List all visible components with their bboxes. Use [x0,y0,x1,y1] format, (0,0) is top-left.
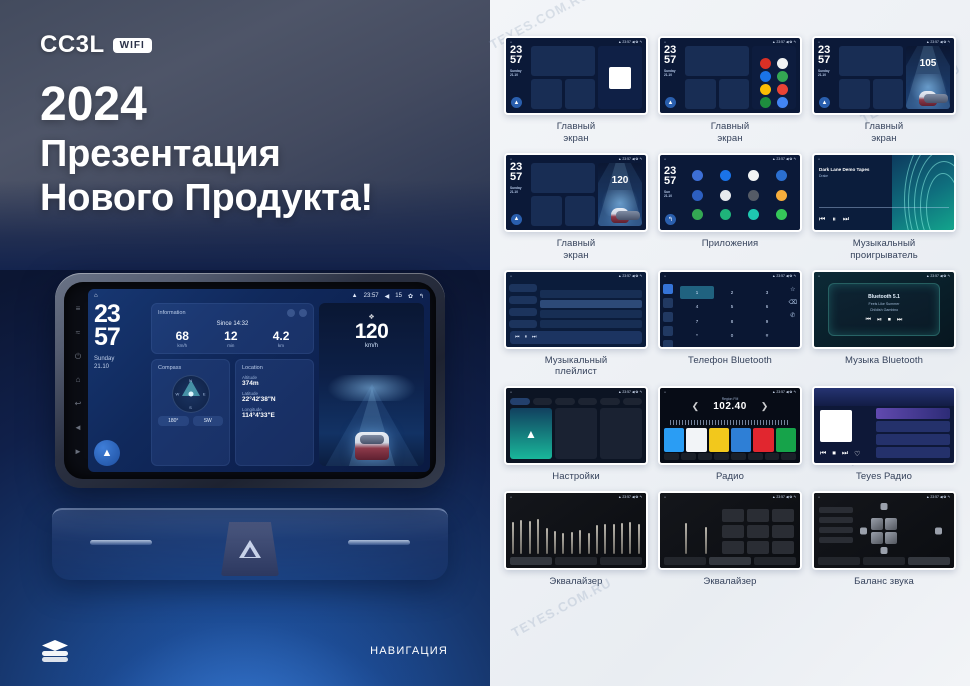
wifi-icon: ▲ [525,427,537,441]
screen-caption: Баланс звука [854,576,914,588]
compass-card[interactable]: Compass N E S W [151,359,230,466]
product-logo: CC3L WIFI [40,31,152,59]
bt-version: Bluetooth 5.1 [868,294,900,300]
grid-row: ⌂▲ 23:57 ◀ ✿ ↰ ▲ Настройки ⌂▲ 23:57 ◀ ✿ … [504,386,956,483]
wifi-icon: ▲ [352,293,358,299]
thumb-speed: 120 [598,175,642,186]
screen-card[interactable]: ⌂▲ 23:57 ◀ ✿ ↰ 1 2 3 4 5 6 7 8 9 * 0 [658,270,802,379]
side-button-volume-down[interactable]: ◄ [74,424,82,432]
equalizer-tabs[interactable] [510,557,642,565]
playlist-tracks[interactable] [540,290,642,328]
screen-caption: Радио [716,471,744,483]
assistant-icon[interactable]: ▲ [94,440,120,466]
equalizer-tabs[interactable] [664,557,796,565]
information-since: Since 14:32 [158,321,307,327]
layers-icon [42,640,68,662]
settings-tabs[interactable] [510,398,642,405]
play-pause-icon[interactable]: ⏯ [877,317,882,324]
head-unit-screen[interactable]: ⌂ ▲ 23:57 ◀ 15 ✿ ↰ 23 57 [88,289,430,472]
compass-n: N [189,378,192,383]
dial-key[interactable]: 9 [750,315,784,329]
previous-icon[interactable]: ⏮ [866,317,871,324]
bt-playback-controls[interactable]: ⏮ ⏯ ⏹ ⏭ [866,317,903,324]
side-button-home[interactable]: ⌂ [76,376,81,384]
frequency-scale[interactable] [670,420,790,425]
head-unit-body: ≡ ≈ ⏻ ⌂ ↩ ◄ ► ⌂ ▲ 23:57 [64,282,436,479]
next-icon[interactable]: ⏭ [532,334,537,340]
screen-card[interactable]: ⌂▲ 23:57 ◀ ✿ ↰ ▲ Настройки [504,386,648,483]
compass-direction: SW [193,416,224,426]
logo-wifi-badge: WIFI [113,38,152,53]
preset-tiles[interactable] [664,428,796,452]
thumb-bt-phone[interactable]: ⌂▲ 23:57 ◀ ✿ ↰ 1 2 3 4 5 6 7 8 9 * 0 [658,270,802,349]
widgets-column: Information Since 14:32 68km/h 12min 4.2… [151,303,314,466]
previous-icon[interactable]: ⏮ [515,334,520,340]
screen-caption: Музыкальныйплейлист [545,355,608,379]
status-icons: ▲ 23:57 ◀ ✿ ↰ [772,274,796,278]
assistant-icon: ▲ [819,97,830,108]
seek-bar[interactable] [819,207,949,208]
logo-model: CC3L [40,31,105,59]
home-icon: ⌂ [510,495,512,499]
next-icon[interactable]: ⏭ [897,317,902,324]
phone-nav[interactable] [663,284,673,349]
station-list[interactable] [876,408,950,458]
radio-frequency: 102.40 [713,401,747,412]
status-time: 23:57 [364,293,379,299]
balance-front-button[interactable] [881,503,888,510]
information-stats: 68km/h 12min 4.2km [158,330,307,348]
grid-row: ⌂▲ 23:57 ◀ ✿ ↰ ⏮ ⏸ ⏭ Музыкальныйплейлист… [504,270,956,379]
equalizer-sliders[interactable] [512,509,640,554]
dial-key[interactable]: 3 [750,286,784,300]
compass-e: E [203,392,206,397]
screen-card[interactable]: ⌂▲ 23:57 ◀ ✿ ↰ 2357Sun21.10 ↰ Приложения [658,153,802,262]
home-icon: ⌂ [664,495,666,499]
next-icon[interactable]: ⏭ [842,450,848,458]
dial-key[interactable]: 2 [715,286,749,300]
status-icons: ▲ 23:57 ◀ ✿ ↰ [618,157,642,161]
stat-item: 68km/h [176,330,189,348]
speed-readout: ❖ 120 km/h [319,313,424,349]
stat-item: 4.2km [273,330,290,348]
pause-icon[interactable]: ⏸ [832,216,836,224]
status-icons: ▲ 23:57 ◀ ✿ ↰ [926,495,950,499]
side-button-volume-up[interactable]: ► [74,448,82,456]
clock-date: 21.10 [94,363,146,371]
compass-needle [188,392,193,397]
screens-grid-panel: TEYES.COM.RU TEYES.COM.RU TEYES.COM.RU T… [490,0,970,686]
headline-year: 2024 [40,78,373,132]
back-icon[interactable]: ↰ [419,293,424,300]
thumb-sound-balance[interactable]: ⌂▲ 23:57 ◀ ✿ ↰ [812,491,956,570]
location-title: Location [242,365,263,371]
screen-caption: Музыкальныйпроигрыватель [850,238,918,262]
status-icons: ▲ 23:57 ◀ ✿ ↰ [772,495,796,499]
assistant-icon: ▲ [511,214,522,225]
speed-icon: ❖ [319,313,424,321]
dial-pad[interactable]: 1 2 3 4 5 6 7 8 9 * 0 # [680,286,784,343]
favorite-icon[interactable]: ☆ [790,286,795,293]
playback-controls[interactable]: ⏮ ⏸ ⏭ [819,216,849,224]
headline-line1: Презентация [40,132,373,176]
horizon-glow [319,375,424,401]
mini-player-bar[interactable]: ⏮ ⏸ ⏭ [510,331,642,344]
thumb-home-drive-105[interactable]: ⌂▲ 23:57 ◀ ✿ ↰ 2357Sunday21.10 105 ▲ [812,36,956,115]
settings-tiles[interactable]: ▲ [510,408,642,459]
bt-track: Feels Like Summer [869,302,900,306]
status-icons: ▲ 23:57 ◀ ✿ ↰ [618,495,642,499]
longitude-value: 114°4'33"E [242,412,307,419]
driving-view-widget[interactable]: ❖ 120 km/h [319,303,424,466]
screen-card[interactable]: ⌂▲ 23:57 ◀ ✿ ↰ 2357Sunday21.10 ▲ Главный… [504,36,648,145]
dial-key[interactable]: 4 [680,300,714,314]
screen-caption: Настройки [552,471,599,483]
balance-left-button[interactable] [860,527,867,534]
favorite-icon[interactable]: ♡ [854,450,860,458]
track-artist: Drake [819,174,890,178]
radio-toolbar[interactable] [664,453,796,460]
status-icons: ▲ 23:57 ◀ ✿ ↰ [772,40,796,44]
compass-readouts: 180° SW [158,416,223,426]
thumb-speed: 105 [906,58,950,69]
stat-value: 12 [224,330,237,343]
previous-icon[interactable]: ⏮ [820,450,826,458]
playlist-sidebar[interactable] [509,284,537,328]
screen-card[interactable]: ⌂▲ 23:57 ◀ ✿ ↰ 2357Sunday21.10 105 ▲ Гла… [812,36,956,145]
compass-w: W [176,392,180,397]
status-icons: ▲ 23:57 ◀ ✿ ↰ [926,274,950,278]
screen-card[interactable]: ⌂▲ 23:57 ◀ ✿ ↰ Dark Lane Demo Tapes Drak… [812,153,956,262]
phone-actions[interactable]: ☆ ⌫ ✆ [789,286,797,319]
home-screen-body: 23 57 Sunday 21.10 ▲ Information [88,303,430,472]
status-bar: ⌂ ▲ 23:57 ◀ 15 ✿ ↰ [88,289,430,303]
seat-balance-grid[interactable] [871,518,897,544]
app-grid[interactable] [682,165,796,226]
altitude-value: 374m [242,380,307,387]
radio-tuner[interactable]: ❮ 102.40 ❯ [660,401,800,412]
balance-right-button[interactable] [935,527,942,534]
information-title: Information [158,310,186,316]
home-icon: ⌂ [818,157,820,161]
screen-caption: Музыка Bluetooth [845,355,923,367]
headline-line2: Нового Продукта! [40,176,373,220]
home-icon: ⌂ [664,157,666,161]
clock-minutes: 57 [94,326,146,349]
screen-caption: Телефон Bluetooth [688,355,772,367]
compass-s: S [189,405,192,410]
next-icon[interactable]: ⏭ [843,216,849,224]
hero-panel: CC3L WIFI 2024 Презентация Нового Продук… [0,0,490,686]
status-icons: ▲ 23:57 ◀ ✿ ↰ [618,390,642,394]
screen-caption: Приложения [702,238,759,250]
screen-caption: Эквалайзер [549,576,602,588]
head-unit-side-buttons[interactable]: ≡ ≈ ⏻ ⌂ ↩ ◄ ► [68,289,88,472]
backspace-icon[interactable]: ⌫ [789,299,797,306]
stat-value: 4.2 [273,330,290,343]
screen-card[interactable]: ⌂▲ 23:57 ◀ ✿ ↰ 2357Sunday21.10 120 ▲ Гла… [504,153,648,262]
home-icon: ⌂ [664,390,666,394]
bt-music-card: Bluetooth 5.1 Feels Like Summer Childish… [828,283,940,336]
balance-rear-button[interactable] [881,547,888,554]
thumb-clock: 2357Sun21.10 [664,167,682,198]
bluetooth-icon[interactable]: ✿ [408,293,413,300]
dashboard-photo: ≡ ≈ ⏻ ⌂ ↩ ◄ ► ⌂ ▲ 23:57 [0,255,490,555]
assistant-icon: ▲ [665,97,676,108]
pause-icon[interactable]: ⏸ [525,334,528,340]
thumb-app-drawer[interactable]: ⌂▲ 23:57 ◀ ✿ ↰ 2357Sun21.10 ↰ [658,153,802,232]
speed-unit: km/h [319,343,424,349]
dial-key[interactable]: * [680,329,714,343]
thumb-home-apps[interactable]: ⌂▲ 23:57 ◀ ✿ ↰ 2357Sunday21.10 ▲ [658,36,802,115]
playback-controls[interactable]: ⏮ ⏹ ⏭ ♡ [820,450,860,458]
dial-key[interactable]: 8 [715,315,749,329]
information-actions[interactable] [287,309,307,317]
next-station-icon[interactable]: ❯ [761,401,769,412]
side-button-power[interactable]: ⏻ [75,353,81,361]
grid-row: ⌂▲ 23:57 ◀ ✿ ↰ 2357Sunday21.10 120 ▲ Гла… [504,153,956,262]
thumb-equalizer-simple[interactable]: ⌂▲ 23:57 ◀ ✿ ↰ [658,491,802,570]
dial-key[interactable]: # [750,329,784,343]
thumb-equalizer-bars[interactable]: ⌂▲ 23:57 ◀ ✿ ↰ [504,491,648,570]
location-latitude: Latitude 22°42'38"N [242,391,307,403]
visualizer [892,155,954,230]
speed-value: 120 [319,321,424,342]
status-icons: ▲ 23:57 ◀ ✿ ↰ [772,390,796,394]
stat-value: 68 [176,330,189,343]
screen-card[interactable]: ⌂▲ 23:57 ◀ ✿ ↰ Баланс звука [812,491,956,588]
status-icons: ▲ 23:57 ◀ ✿ ↰ [926,40,950,44]
stop-icon[interactable]: ⏹ [832,450,836,458]
settings-icon[interactable] [287,309,295,317]
compass-heading: 180° [158,416,189,426]
screen-card[interactable]: ⏮ ⏹ ⏭ ♡ Teyes Радио [812,386,956,483]
screen-caption: Главныйэкран [865,121,904,145]
grid-row: ⌂▲ 23:57 ◀ ✿ ↰ 2357Sunday21.10 ▲ Главный… [504,36,956,145]
balance-tabs[interactable] [818,557,950,565]
screen-caption: Teyes Радио [856,471,912,483]
screen-caption: Главныйэкран [557,121,596,145]
thumb-music-player[interactable]: ⌂▲ 23:57 ◀ ✿ ↰ Dark Lane Demo Tapes Drak… [812,153,956,232]
screen-card[interactable]: ⌂▲ 23:57 ◀ ✿ ↰ Эквалайзер [504,491,648,588]
clock-day: Sunday [94,355,146,363]
screen-card[interactable]: ⌂▲ 23:57 ◀ ✿ ↰ ⏮ ⏸ ⏭ Музыкальныйплейлист [504,270,648,379]
screen-caption: Главныйэкран [557,238,596,262]
screen-card[interactable]: ⌂▲ 23:57 ◀ ✿ ↰ Эквалайзер [658,491,802,588]
hero-footer: НАВИГАЦИЯ [0,616,490,686]
balance-presets[interactable] [819,507,853,543]
dial-key[interactable]: 5 [715,300,749,314]
back-icon[interactable]: ↰ [665,214,676,225]
information-card[interactable]: Information Since 14:32 68km/h 12min 4.2… [151,303,314,354]
home-icon: ⌂ [510,274,512,278]
screen-caption: Эквалайзер [703,576,756,588]
location-altitude: Altitude 374m [242,375,307,387]
screen-caption: Главныйэкран [711,121,750,145]
stat-unit: km [273,343,290,348]
status-icons: ▲ 23:57 ◀ ✿ ↰ [618,274,642,278]
thumb-teyes-radio[interactable]: ⏮ ⏹ ⏭ ♡ [812,386,956,465]
status-volume: 15 [395,293,402,299]
prev-station-icon[interactable]: ❮ [692,401,700,412]
side-button-wifi[interactable]: ≈ [76,329,80,337]
location-card[interactable]: Location Altitude 374m Latitude 22°42'38… [235,359,314,466]
track-title: Dark Lane Demo Tapes [819,167,890,172]
status-icons: ▲ 23:57 ◀ ✿ ↰ [618,40,642,44]
headline: 2024 Презентация Нового Продукта! [40,78,373,220]
stop-icon[interactable]: ⏹ [888,317,891,324]
dial-key[interactable]: 0 [715,329,749,343]
assistant-icon: ▲ [511,97,522,108]
thumb-bt-music[interactable]: ⌂▲ 23:57 ◀ ✿ ↰ Bluetooth 5.1 Feels Like … [812,270,956,349]
call-icon[interactable]: ✆ [790,312,795,319]
home-icon: ⌂ [818,495,820,499]
thumb-home-media[interactable]: ⌂▲ 23:57 ◀ ✿ ↰ 2357Sunday21.10 ▲ [504,36,648,115]
home-icon: ⌂ [818,274,820,278]
presentation-slide: CC3L WIFI 2024 Презентация Нового Продук… [0,0,970,686]
nav-label: НАВИГАЦИЯ [370,645,448,657]
app-shortcuts[interactable] [756,56,792,105]
compass-dial: N E S W [172,375,210,413]
latitude-value: 22°42'38"N [242,396,307,403]
thumb-settings[interactable]: ⌂▲ 23:57 ◀ ✿ ↰ ▲ [504,386,648,465]
teyes-header[interactable] [814,388,954,406]
stat-unit: km/h [176,343,189,348]
compass-title: Compass [158,365,181,371]
location-longitude: Longitude 114°4'33"E [242,407,307,419]
screen-card[interactable]: ⌂▲ 23:57 ◀ ✿ ↰ Region FM ❮ 102.40 ❯ Ради… [658,386,802,483]
dial-key[interactable]: 6 [750,300,784,314]
volume-icon: ◀ [385,293,390,300]
side-button-back[interactable]: ↩ [75,400,82,408]
album-art [609,67,631,89]
lower-widgets: Compass N E S W [151,359,314,466]
stat-unit: min [224,343,237,348]
refresh-icon[interactable] [299,309,307,317]
home-icon: ⌂ [664,274,666,278]
dual-sliders[interactable] [676,511,716,554]
thumb-playlist[interactable]: ⌂▲ 23:57 ◀ ✿ ↰ ⏮ ⏸ ⏭ [504,270,648,349]
screen-card[interactable]: ⌂▲ 23:57 ◀ ✿ ↰ Bluetooth 5.1 Feels Like … [812,270,956,379]
stat-item: 12min [224,330,237,348]
preset-buttons[interactable] [722,509,794,554]
car-model [355,432,389,460]
home-icon: ⌂ [510,390,512,394]
thumb-home-drive-120[interactable]: ⌂▲ 23:57 ◀ ✿ ↰ 2357Sunday21.10 120 ▲ [504,153,648,232]
thumb-radio[interactable]: ⌂▲ 23:57 ◀ ✿ ↰ Region FM ❮ 102.40 ❯ [658,386,802,465]
dial-key[interactable]: 1 [680,286,714,300]
album-art [820,410,852,442]
screen-card[interactable]: ⌂▲ 23:57 ◀ ✿ ↰ 2357Sunday21.10 ▲ Гла [658,36,802,145]
status-icons: ▲ 23:57 ◀ ✿ ↰ [772,157,796,161]
head-unit-bezel: ≡ ≈ ⏻ ⌂ ↩ ◄ ► ⌂ ▲ 23:57 [55,273,445,488]
grid-row: ⌂▲ 23:57 ◀ ✿ ↰ Эквалайзер ⌂▲ 23:57 ◀ ✿ ↰ [504,491,956,588]
previous-icon[interactable]: ⏮ [819,216,825,224]
bt-artist: Childish Gambino [870,308,898,312]
home-icon[interactable]: ⌂ [94,293,98,299]
dial-key[interactable]: 7 [680,315,714,329]
side-button-mic[interactable]: ≡ [76,305,81,313]
clock-widget: 23 57 Sunday 21.10 ▲ [94,303,146,466]
